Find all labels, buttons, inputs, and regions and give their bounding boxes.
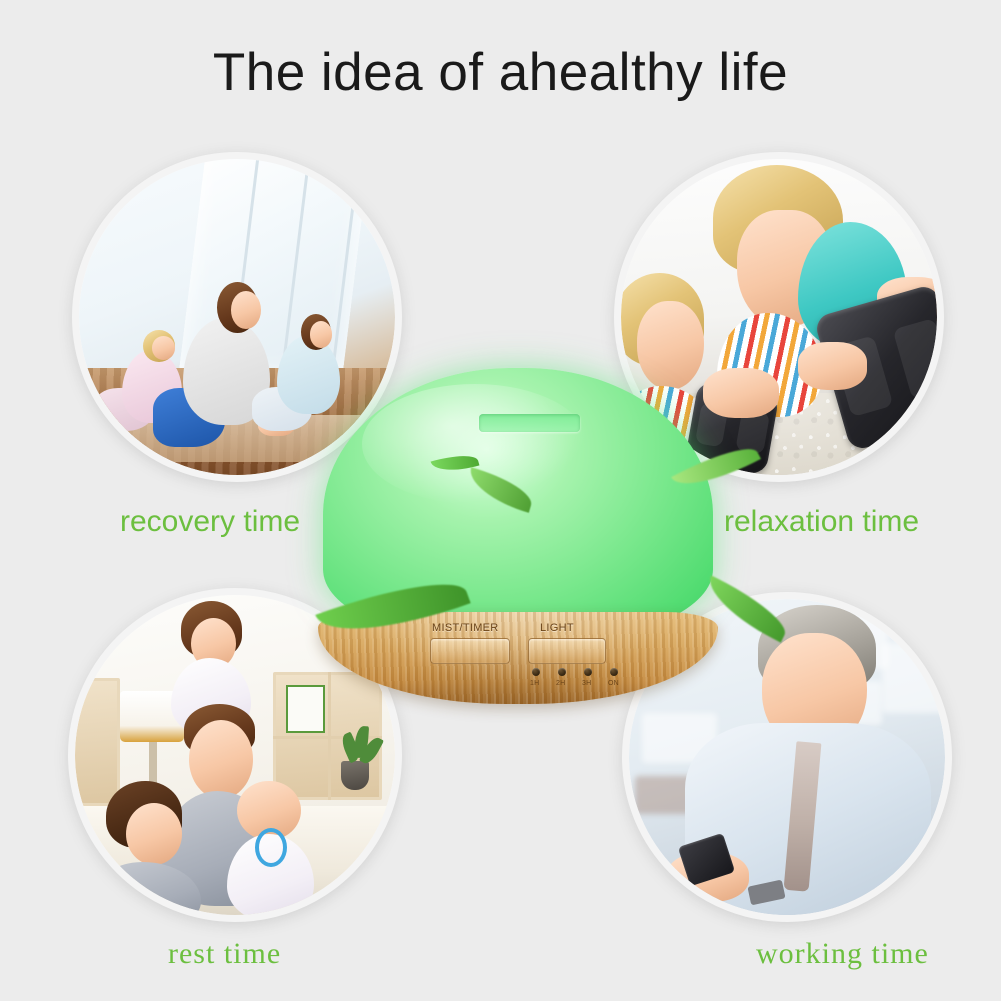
caption-relaxation: relaxation time xyxy=(724,505,919,539)
mist-timer-button[interactable] xyxy=(430,638,510,664)
aroma-diffuser[interactable]: MIST/TIMER LIGHT 1H 2H 3H ON xyxy=(318,368,718,704)
led-label-3h: 3H xyxy=(582,680,591,687)
led-on xyxy=(610,668,618,676)
led-3h xyxy=(584,668,592,676)
led-2h xyxy=(558,668,566,676)
caption-working: working time xyxy=(756,937,929,971)
light-button[interactable] xyxy=(528,638,606,664)
mist-vent xyxy=(479,414,580,432)
led-label-on: ON xyxy=(608,680,619,687)
page-title: The idea of ahealthy life xyxy=(0,42,1001,103)
led-label-2h: 2H xyxy=(556,680,565,687)
mist-timer-button-label: MIST/TIMER xyxy=(432,622,499,634)
light-button-label: LIGHT xyxy=(540,622,574,634)
led-1h xyxy=(532,668,540,676)
caption-recovery: recovery time xyxy=(120,505,300,539)
product-poster: The idea of ahealthy life xyxy=(0,0,1001,1001)
caption-rest: rest time xyxy=(168,937,281,971)
led-label-1h: 1H xyxy=(530,680,539,687)
